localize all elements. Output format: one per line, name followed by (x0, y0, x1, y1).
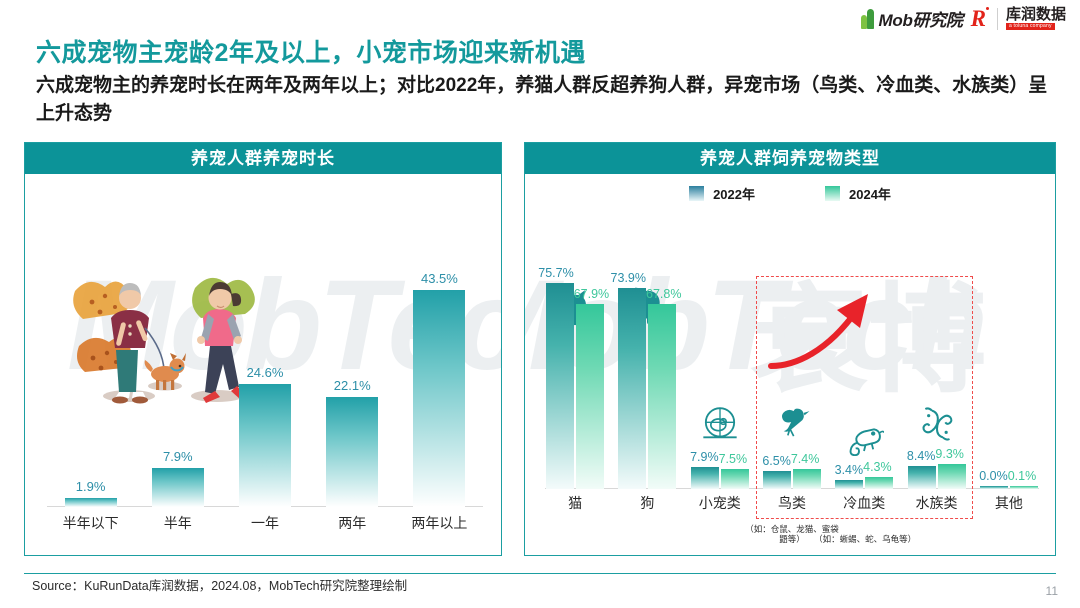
logo-divider (997, 8, 998, 30)
left-panel-title: 养宠人群养宠时长 (25, 143, 501, 174)
bar-2024[interactable] (1010, 486, 1038, 489)
left-bar[interactable] (326, 397, 378, 508)
left-bar-value: 1.9% (76, 479, 106, 494)
right-category-label: 水族类 (900, 493, 972, 513)
bar-value-2022: 6.5% (762, 454, 791, 468)
left-category-label: 半年以下 (63, 513, 119, 533)
bar-value-2022: 8.4% (907, 449, 936, 463)
kurun-logo: 库润数据 a toluna company (1006, 7, 1066, 30)
right-category-label: 小宠类 (684, 493, 756, 513)
left-bar-value: 43.5% (421, 271, 458, 286)
bar-pair (756, 469, 828, 489)
bar-value-2022: 7.9% (690, 450, 719, 464)
left-category-label: 两年以上 (411, 513, 467, 533)
right-bar-column: 7.9%7.5%小宠类 (684, 214, 756, 547)
left-bar-chart: 1.9%半年以下7.9%半年24.6%一年22.1%两年43.5%两年以上 (47, 211, 483, 541)
right-bar-column: 0.0%0.1%其他 (973, 214, 1045, 547)
slide: Mob研究院 R 库润数据 a toluna company 六成宠物主宠龄2年… (0, 0, 1080, 608)
left-bar-column: 7.9%半年 (134, 211, 221, 541)
bar-pair (828, 477, 900, 489)
left-bar-column: 24.6%一年 (221, 211, 308, 541)
kurun-name: 库润数据 (1006, 7, 1066, 22)
right-bar-chart: 75.7%67.9%猫73.9%67.8%狗7.9%7.5%小宠类6.5%7.4… (539, 214, 1045, 547)
bar-2022[interactable] (980, 486, 1008, 489)
left-bar-column: 1.9%半年以下 (47, 211, 134, 541)
left-bar[interactable] (239, 384, 291, 507)
bar-value-2024: 7.4% (791, 452, 820, 466)
left-bar[interactable] (413, 290, 465, 508)
right-category-label: 冷血类 (828, 493, 900, 513)
bar-value-2024: 9.3% (935, 447, 964, 461)
bar-2022[interactable] (908, 466, 936, 489)
leaf-icon (861, 9, 876, 29)
hamster-wheel-icon (684, 404, 756, 449)
page-subtitle: 六成宠物主的养宠时长在两年及两年以上；对比2022年，养猫人群反超养狗人群，异宠… (36, 72, 1052, 127)
left-bar-value: 7.9% (163, 449, 193, 464)
mob-logo-text: Mob研究院 (879, 6, 963, 31)
right-category-label: 猫 (539, 493, 611, 513)
right-category-label: 鸟类 (756, 493, 828, 513)
mob-logo: Mob研究院 (861, 6, 963, 31)
bar-value-2022: 3.4% (835, 463, 864, 477)
footer-divider (24, 573, 1056, 574)
legend-label-2024: 2024年 (849, 184, 891, 203)
bar-pair (900, 464, 972, 489)
bar-2022[interactable] (763, 471, 791, 489)
legend-label-2022: 2022年 (713, 184, 755, 203)
bar-value-2022: 73.9% (611, 271, 646, 285)
right-bar-column: 8.4%9.3%水族类 (900, 214, 972, 547)
kurun-tagline: a toluna company (1006, 23, 1055, 30)
right-category-label: 狗 (611, 493, 683, 513)
left-bar-column: 43.5%两年以上 (396, 211, 483, 541)
left-category-label: 两年 (338, 513, 366, 533)
right-panel-body: MobTech 衰博 2022年 2024年 75.7%6 (525, 174, 1055, 555)
left-bar-value: 22.1% (334, 378, 371, 393)
bar-value-2024: 7.5% (719, 452, 748, 466)
bar-value-2022: 75.7% (538, 266, 573, 280)
page-number: 11 (1046, 584, 1058, 598)
left-bar[interactable] (152, 468, 204, 508)
page-title: 六成宠物主宠龄2年及以上，小宠市场迎来新机遇 (36, 33, 586, 69)
bar-2024[interactable] (648, 304, 676, 489)
legend-swatch-2024 (825, 186, 840, 201)
left-bar-value: 24.6% (247, 365, 284, 380)
fish-icon (900, 404, 972, 449)
legend-swatch-2022 (689, 186, 704, 201)
bar-2024[interactable] (938, 464, 966, 489)
source-note: Source：KuRunData库润数据，2024.08，MobTech研究院整… (32, 575, 407, 594)
legend-item-2024[interactable]: 2024年 (825, 184, 891, 203)
left-bar[interactable] (65, 498, 117, 508)
right-bar-column: 75.7%67.9%猫 (539, 214, 611, 547)
right-panel-title: 养宠人群饲养宠物类型 (525, 143, 1055, 174)
bar-pair (611, 288, 683, 489)
bar-pair (539, 283, 611, 489)
right-chart-panel: 养宠人群饲养宠物类型 MobTech 衰博 2022年 2024年 (524, 142, 1056, 556)
category-footnote: （如：蜥蜴、蛇、乌龟等） (814, 534, 914, 545)
bar-value-2024: 4.3% (863, 460, 892, 474)
right-bar-column: 6.5%7.4%鸟类（如：仓鼠、龙猫、蜜袋鼯等） (756, 214, 828, 547)
bar-2022[interactable] (835, 480, 863, 489)
bird-icon (756, 402, 828, 447)
bar-2024[interactable] (793, 469, 821, 489)
bar-2022[interactable] (691, 467, 719, 489)
bar-pair (684, 467, 756, 489)
bar-2024[interactable] (576, 304, 604, 489)
right-category-label: 其他 (973, 493, 1045, 513)
bar-2022[interactable] (546, 283, 574, 489)
bar-value-2024: 0.1% (1008, 469, 1037, 483)
left-bar-column: 22.1%两年 (309, 211, 396, 541)
left-panel-body: MobTech (25, 174, 501, 555)
left-chart-columns: 1.9%半年以下7.9%半年24.6%一年22.1%两年43.5%两年以上 (47, 211, 483, 541)
right-chart-columns: 75.7%67.9%猫73.9%67.8%狗7.9%7.5%小宠类6.5%7.4… (539, 214, 1045, 547)
bar-pair (973, 486, 1045, 489)
left-chart-panel: 养宠人群养宠时长 MobTech (24, 142, 502, 556)
right-bar-column: 73.9%67.8%狗 (611, 214, 683, 547)
left-category-label: 半年 (164, 513, 192, 533)
legend-item-2022[interactable]: 2022年 (689, 184, 755, 203)
brand-logos: Mob研究院 R 库润数据 a toluna company (861, 6, 1067, 31)
kurun-r-icon: R (971, 7, 989, 30)
chameleon-icon (828, 416, 900, 461)
right-bar-column: 3.4%4.3%冷血类（如：蜥蜴、蛇、乌龟等） (828, 214, 900, 547)
left-category-label: 一年 (251, 513, 279, 533)
bar-2024[interactable] (721, 469, 749, 489)
right-chart-legend: 2022年 2024年 (525, 184, 1055, 203)
bar-value-2022: 0.0% (979, 469, 1008, 483)
bar-2024[interactable] (865, 477, 893, 489)
bar-2022[interactable] (618, 288, 646, 489)
